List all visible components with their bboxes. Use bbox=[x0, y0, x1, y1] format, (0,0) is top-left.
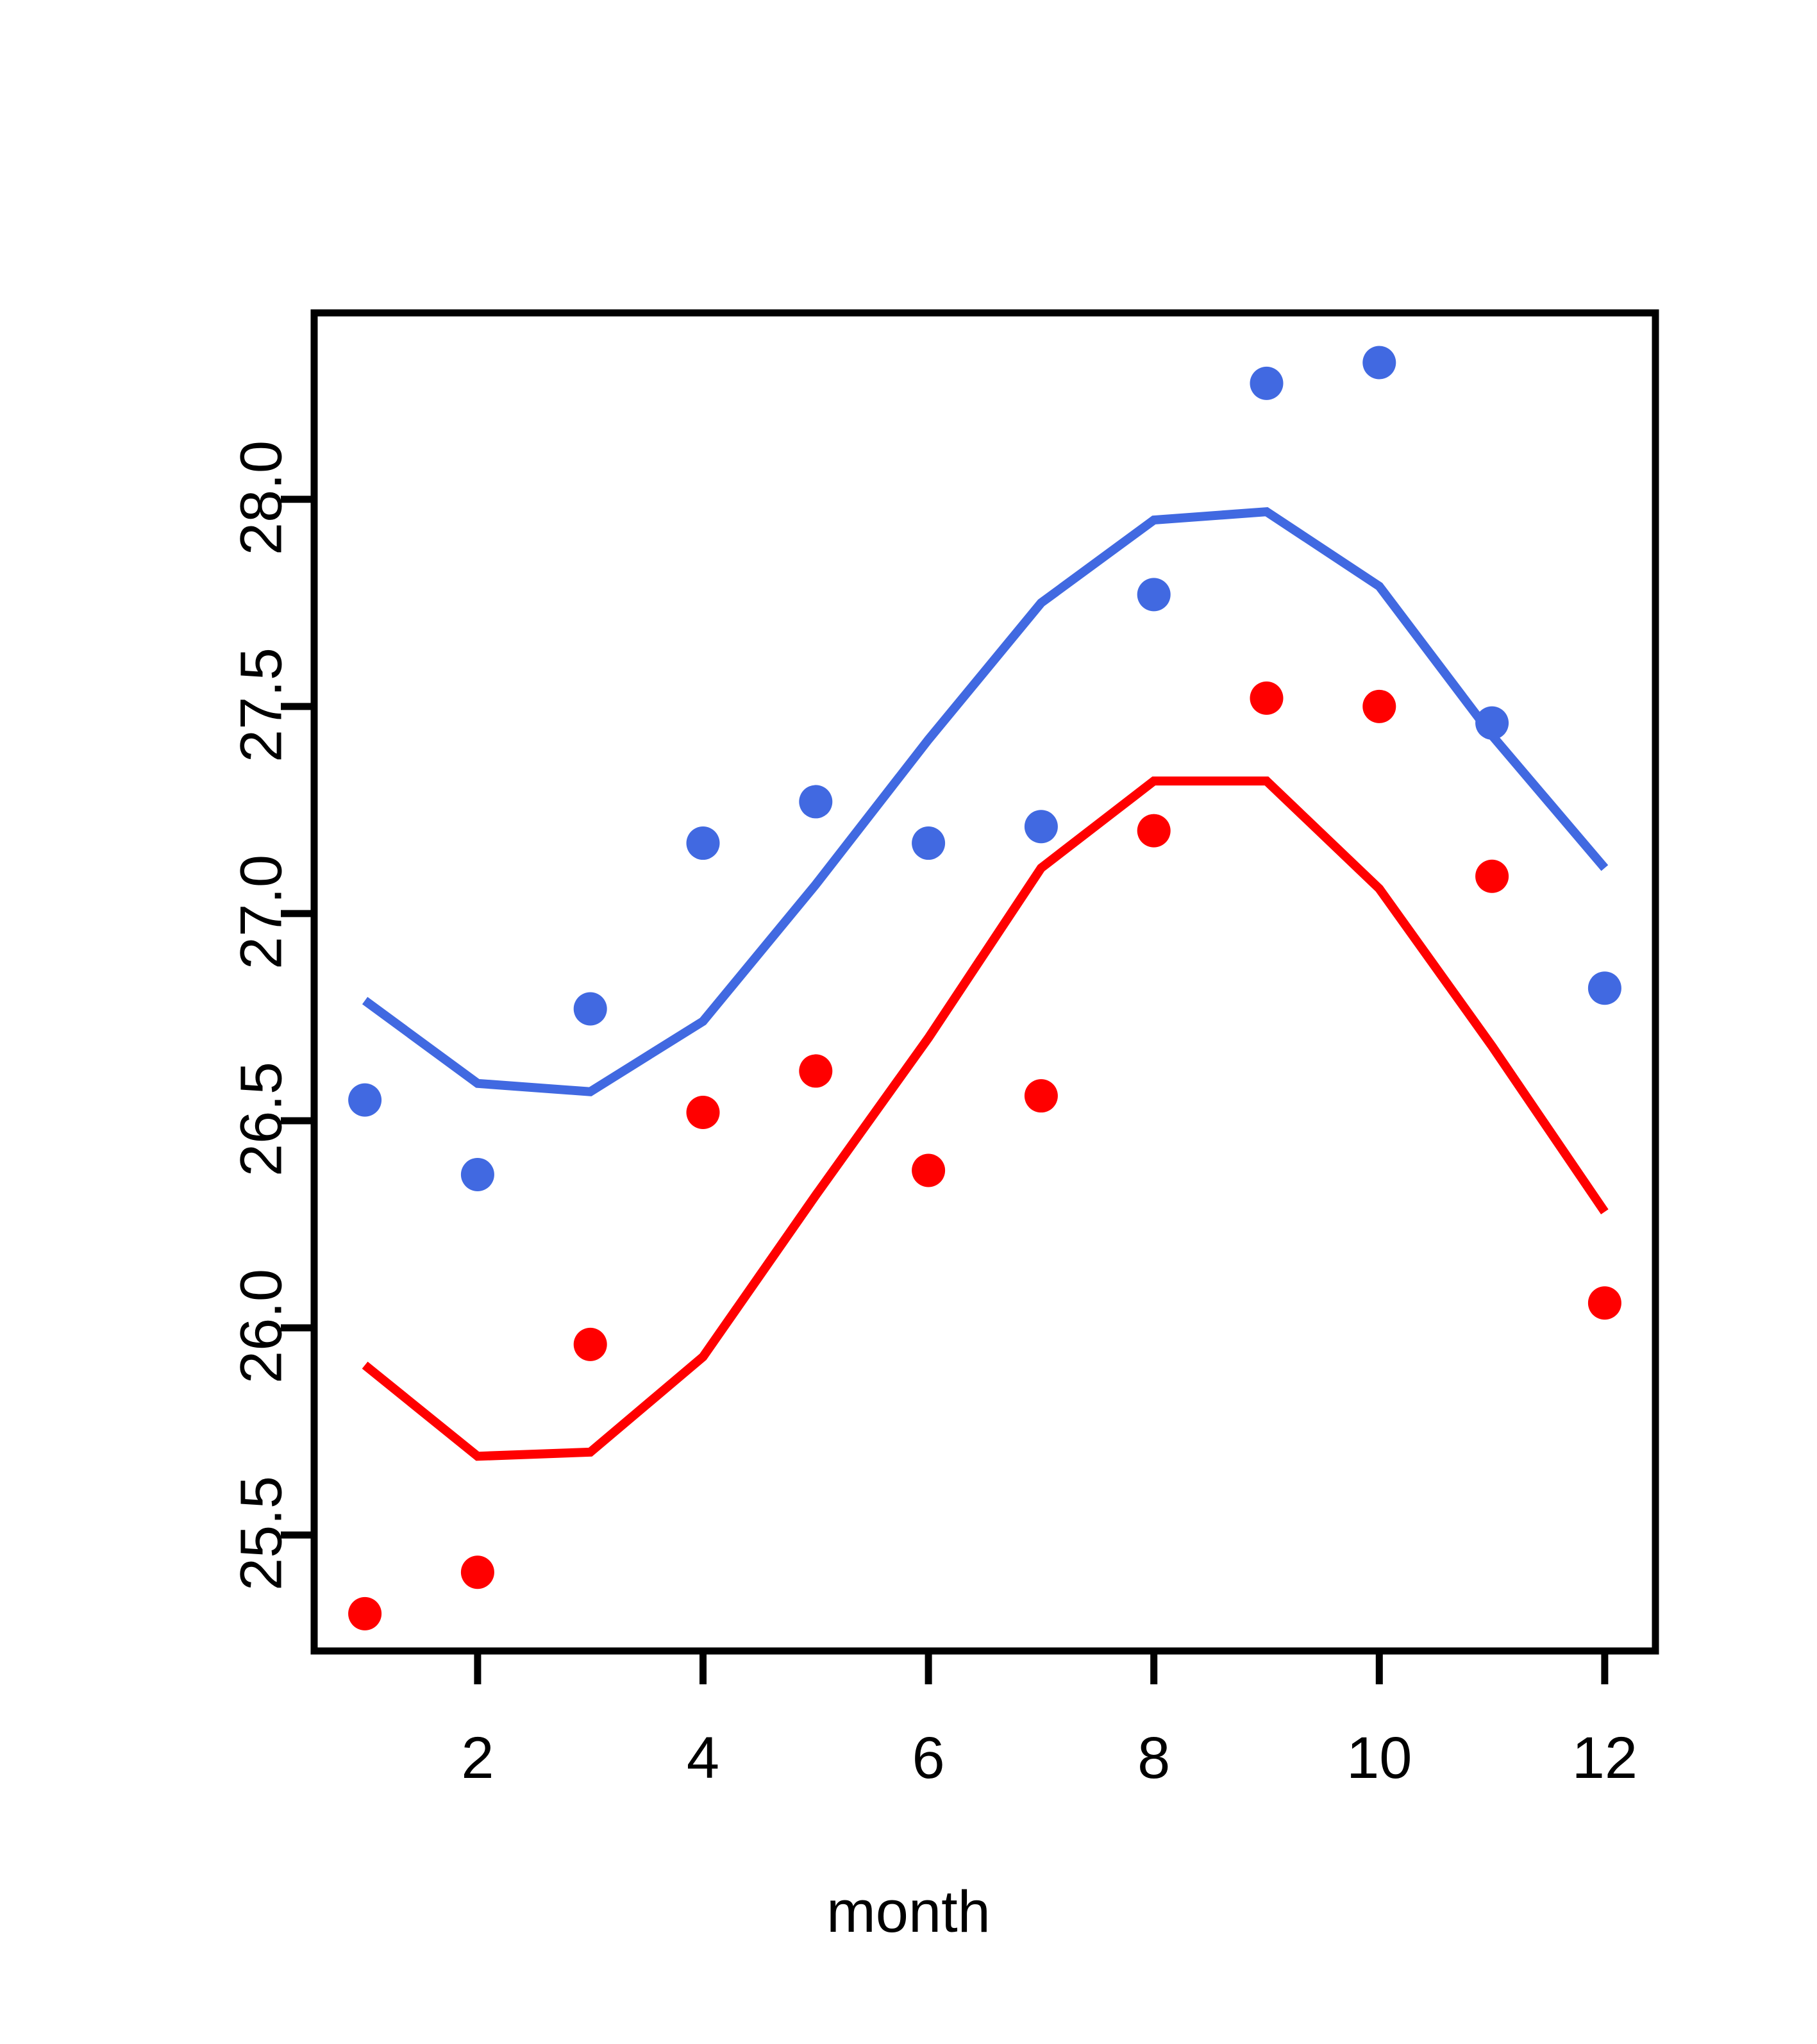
data-point-blue-points bbox=[574, 992, 607, 1025]
data-point-blue-points bbox=[1588, 971, 1621, 1005]
x-tick-label: 6 bbox=[832, 1725, 1025, 1792]
data-point-blue-points bbox=[799, 785, 832, 818]
data-point-red-points bbox=[461, 1555, 494, 1589]
y-tick-label: 26.5 bbox=[228, 1035, 296, 1202]
x-tick-label: 12 bbox=[1509, 1725, 1701, 1792]
data-point-red-points bbox=[1588, 1286, 1621, 1319]
data-point-blue-points bbox=[687, 826, 720, 860]
data-point-blue-points bbox=[1250, 367, 1283, 400]
data-point-blue-points bbox=[1025, 810, 1058, 843]
x-tick-label: 10 bbox=[1283, 1725, 1475, 1792]
data-point-red-points bbox=[1025, 1079, 1058, 1112]
data-point-red-points bbox=[912, 1153, 945, 1187]
chart-page: EARTH-Hadley Centre CRU partial data col… bbox=[0, 0, 1817, 2044]
data-point-red-points bbox=[1250, 682, 1283, 715]
y-tick-label: 27.5 bbox=[228, 621, 296, 788]
y-tick-label: 26.0 bbox=[228, 1243, 296, 1410]
data-point-red-points bbox=[1475, 860, 1509, 893]
y-tick-label: 28.0 bbox=[228, 414, 296, 581]
data-point-red-points bbox=[687, 1096, 720, 1129]
data-point-blue-points bbox=[1362, 346, 1396, 380]
data-point-red-points bbox=[574, 1328, 607, 1361]
data-point-red-points bbox=[348, 1597, 381, 1630]
data-point-blue-points bbox=[1475, 707, 1509, 740]
data-point-blue-points bbox=[348, 1084, 381, 1117]
x-tick-label: 8 bbox=[1058, 1725, 1250, 1792]
data-point-red-points bbox=[799, 1054, 832, 1087]
data-point-blue-points bbox=[1137, 578, 1171, 611]
y-tick-label: 27.0 bbox=[228, 828, 296, 995]
data-point-blue-points bbox=[912, 826, 945, 860]
y-tick-label: 25.5 bbox=[228, 1450, 296, 1617]
data-point-red-points bbox=[1362, 690, 1396, 723]
data-point-blue-points bbox=[461, 1158, 494, 1191]
data-point-red-points bbox=[1137, 814, 1171, 848]
x-tick-label: 4 bbox=[607, 1725, 800, 1792]
x-tick-label: 2 bbox=[381, 1725, 574, 1792]
x-axis-title: month bbox=[0, 1879, 1817, 1946]
